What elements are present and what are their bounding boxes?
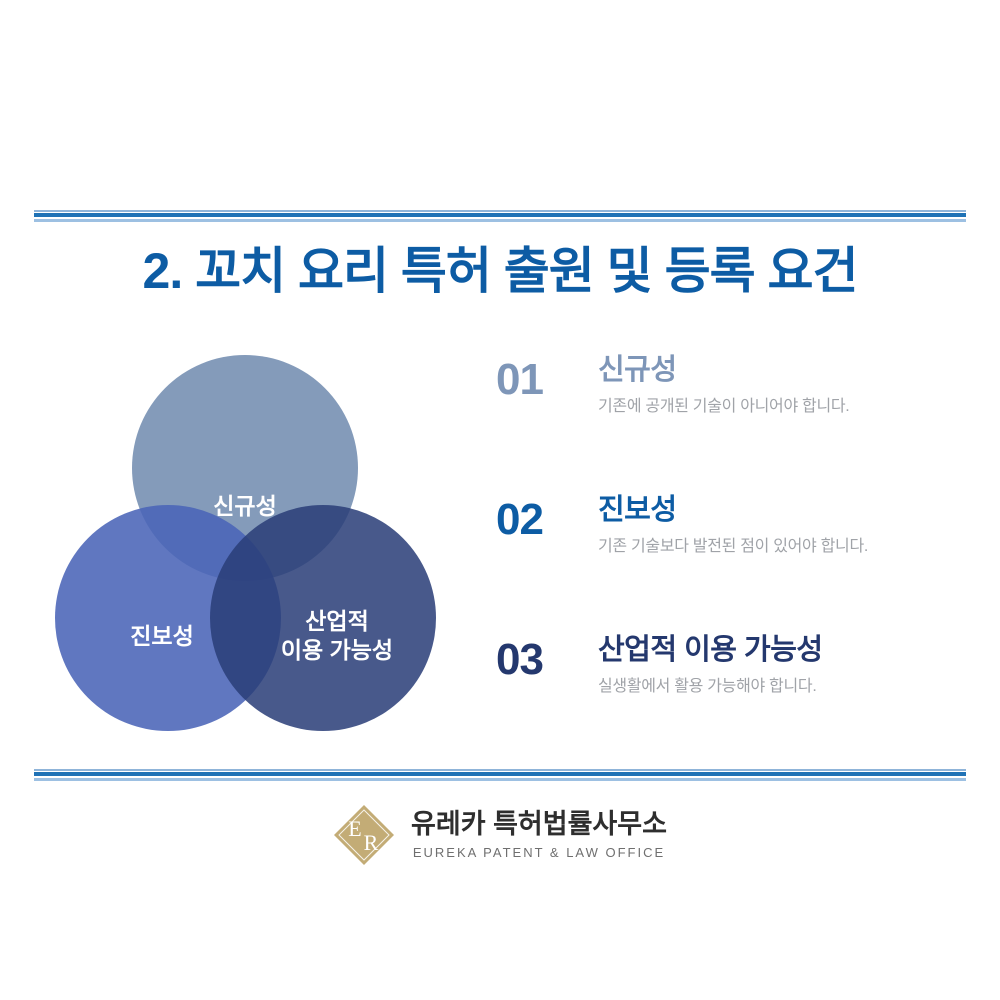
logo-name-english: EUREKA PATENT & LAW OFFICE (413, 845, 665, 860)
divider-bottom-light-line (34, 778, 966, 781)
venn-label-line-1: 산업적 (305, 608, 368, 634)
svg-text:E: E (348, 816, 361, 841)
divider-bottom (34, 769, 966, 781)
requirement-number-03: 03 (496, 638, 590, 682)
requirement-description-03: 실생활에서 활용 가능해야 합니다. (598, 672, 966, 696)
divider-top-light-line (34, 219, 966, 222)
requirement-body-03: 산업적 이용 가능성 실생활에서 활용 가능해야 합니다. (598, 632, 966, 696)
divider-bottom-thick-line (34, 772, 966, 776)
requirement-number-02: 02 (496, 498, 590, 542)
divider-top-thick-line (34, 213, 966, 217)
venn-circle-industrial-applicability-label: 산업적 이용 가능성 (281, 607, 393, 665)
venn-circle-industrial-applicability: 산업적 이용 가능성 (210, 505, 436, 731)
venn-diagram: 신규성 진보성 산업적 이용 가능성 (55, 355, 445, 745)
requirement-body-02: 진보성 기존 기술보다 발전된 점이 있어야 합니다. (598, 492, 966, 556)
requirement-description-01: 기존에 공개된 기술이 아니어야 합니다. (598, 392, 966, 416)
svg-text:R: R (364, 830, 379, 855)
venn-circle-inventive-step-label: 진보성 (130, 622, 193, 651)
requirement-body-01: 신규성 기존에 공개된 기술이 아니어야 합니다. (598, 352, 966, 416)
divider-top-thin-line (34, 210, 966, 212)
requirement-heading-03: 산업적 이용 가능성 (598, 632, 966, 668)
requirement-list: 01 신규성 기존에 공개된 기술이 아니어야 합니다. 02 진보성 기존 기… (496, 352, 966, 772)
divider-bottom-thin-line (34, 769, 966, 771)
requirement-item-01: 01 신규성 기존에 공개된 기술이 아니어야 합니다. (496, 352, 966, 492)
requirement-item-02: 02 진보성 기존 기술보다 발전된 점이 있어야 합니다. (496, 492, 966, 632)
slide-canvas: 2. 꼬치 요리 특허 출원 및 등록 요건 신규성 진보성 산업적 이용 가능… (0, 0, 1000, 1000)
footer-logo: E R 유레카 특허법률사무소 EUREKA PATENT & LAW OFFI… (0, 804, 1000, 866)
requirement-item-03: 03 산업적 이용 가능성 실생활에서 활용 가능해야 합니다. (496, 632, 966, 772)
requirement-heading-01: 신규성 (598, 352, 966, 388)
venn-label-line-2: 이용 가능성 (281, 637, 393, 663)
requirement-heading-02: 진보성 (598, 492, 966, 528)
logo-text-block: 유레카 특허법률사무소 EUREKA PATENT & LAW OFFICE (411, 810, 667, 861)
page-title: 2. 꼬치 요리 특허 출원 및 등록 요건 (0, 243, 1000, 301)
venn-circle-novelty-label: 신규성 (213, 492, 276, 521)
eureka-diamond-logo-icon: E R (333, 804, 395, 866)
divider-top (34, 210, 966, 222)
requirement-number-01: 01 (496, 358, 590, 402)
logo-name-korean: 유레카 특허법률사무소 (411, 810, 667, 840)
requirement-description-02: 기존 기술보다 발전된 점이 있어야 합니다. (598, 532, 966, 556)
